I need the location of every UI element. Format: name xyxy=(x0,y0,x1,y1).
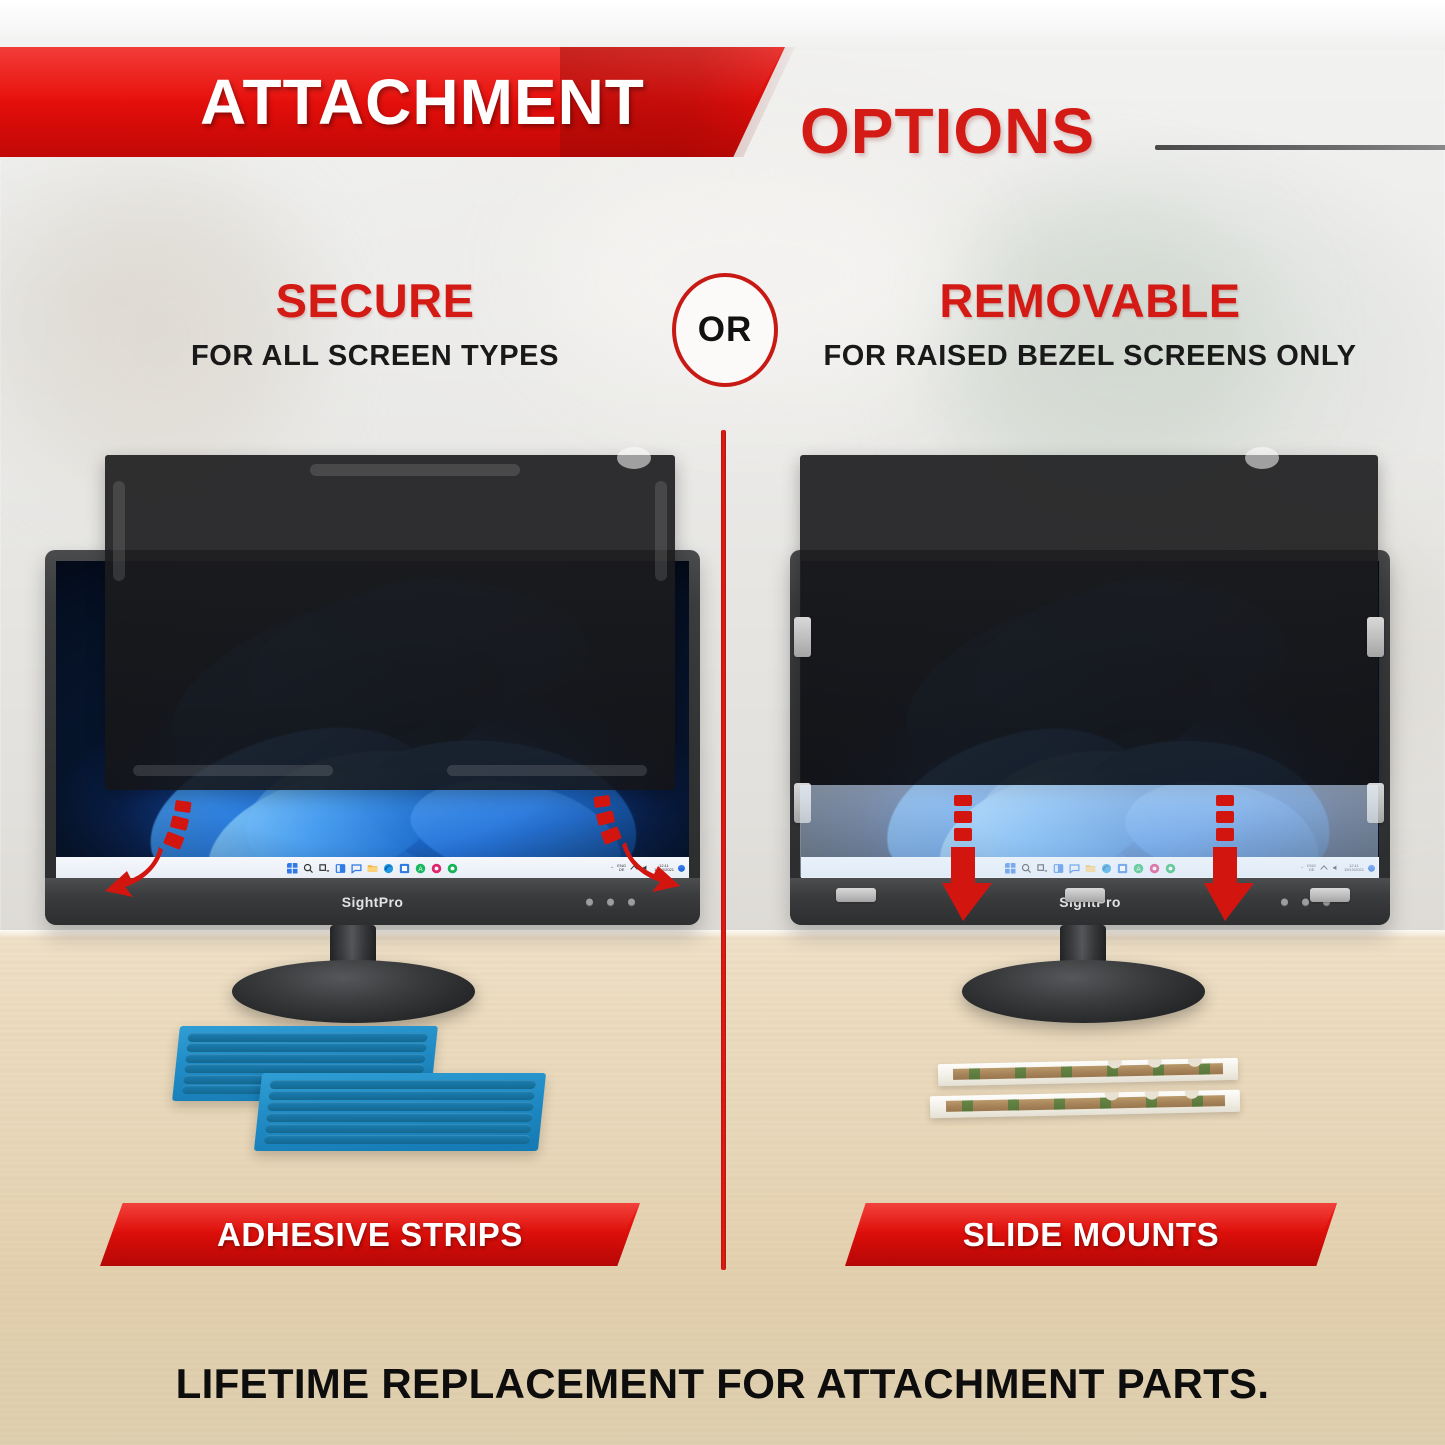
search-icon[interactable] xyxy=(303,863,314,874)
filter-bottom-notch-right xyxy=(447,765,647,776)
start-icon[interactable] xyxy=(287,863,298,874)
filter-light-band-right xyxy=(800,785,1378,877)
section-subtitle-removable: FOR RAISED BEZEL SCREENS ONLY xyxy=(790,340,1390,373)
filter-webcam-cutout xyxy=(1245,447,1279,469)
adhesive-strip xyxy=(267,1102,534,1111)
slide-mount-clip-left-upper[interactable] xyxy=(794,617,811,657)
infographic-canvas: ATTACHMENT OPTIONS SECURE FOR ALL SCREEN… xyxy=(0,0,1445,1445)
label-banner-slide-mounts: SLIDE MOUNTS xyxy=(845,1203,1337,1266)
taskbar-icon-group: A xyxy=(287,863,458,874)
svg-text:A: A xyxy=(418,865,423,872)
adhesive-strip xyxy=(185,1054,426,1063)
widgets-icon[interactable] xyxy=(335,863,346,874)
adhesive-strip-sheet-front[interactable] xyxy=(254,1073,546,1151)
monitor-right-stand-base xyxy=(962,960,1205,1023)
privacy-filter-panel-left[interactable] xyxy=(105,455,675,790)
filter-right-tab xyxy=(655,481,667,581)
label-slide-mounts: SLIDE MOUNTS xyxy=(963,1216,1220,1254)
adhesive-strip xyxy=(265,1124,532,1133)
app-pink-o-icon[interactable] xyxy=(431,863,442,874)
app-green-o-icon[interactable] xyxy=(447,863,458,874)
adhesive-strip xyxy=(184,1064,425,1073)
adhesive-strip xyxy=(264,1135,531,1144)
slide-mount-clip-right-upper[interactable] xyxy=(1367,617,1384,657)
footer-tagline: LIFETIME REPLACEMENT FOR ATTACHMENT PART… xyxy=(0,1360,1445,1408)
filter-left-tab xyxy=(113,481,125,581)
section-heading-left: SECURE FOR ALL SCREEN TYPES xyxy=(90,273,660,373)
app-green-a-icon[interactable]: A xyxy=(415,863,426,874)
monitor-button[interactable] xyxy=(1302,898,1309,905)
task-view-icon[interactable] xyxy=(319,863,330,874)
adhesive-strip xyxy=(266,1113,533,1122)
slide-mount-clip-bottom-left[interactable] xyxy=(836,888,876,902)
slide-mount-adhesive-core xyxy=(953,1063,1223,1080)
header-title-primary: ATTACHMENT xyxy=(200,65,645,139)
slide-mount-clip-bottom-right[interactable] xyxy=(1310,888,1350,902)
header-title-secondary: OPTIONS xyxy=(800,94,1095,168)
monitor-button[interactable] xyxy=(1281,898,1288,905)
adhesive-strip xyxy=(187,1033,428,1042)
adhesive-strip xyxy=(269,1080,536,1089)
section-title-secure: SECURE xyxy=(90,273,660,328)
arrow-straight-right xyxy=(1192,795,1258,923)
filter-bottom-notch-left xyxy=(133,765,333,776)
section-subtitle-secure: FOR ALL SCREEN TYPES xyxy=(90,340,660,373)
arrow-straight-left xyxy=(930,795,996,923)
vertical-divider xyxy=(721,430,726,1270)
chat-icon[interactable] xyxy=(351,863,362,874)
or-badge-label: OR xyxy=(698,310,753,350)
file-explorer-icon[interactable] xyxy=(367,863,378,874)
section-heading-right: REMOVABLE FOR RAISED BEZEL SCREENS ONLY xyxy=(790,273,1390,373)
label-banner-adhesive-strips: ADHESIVE STRIPS xyxy=(100,1203,640,1266)
edge-icon[interactable] xyxy=(383,863,394,874)
filter-webcam-cutout xyxy=(617,447,651,469)
top-white-strip xyxy=(0,0,1445,50)
slide-mount-adhesive-core xyxy=(945,1095,1224,1112)
section-title-removable: REMOVABLE xyxy=(790,273,1390,328)
filter-top-notch xyxy=(310,464,520,476)
adhesive-strip xyxy=(186,1043,427,1052)
arrow-curved-left xyxy=(105,795,235,925)
monitor-left-stand-base xyxy=(232,960,475,1023)
slide-mount-clip-bottom-center[interactable] xyxy=(1065,888,1105,902)
monitor-left-brand: SightPro xyxy=(342,894,404,910)
privacy-filter-panel-right[interactable] xyxy=(800,455,1378,785)
header-banner: ATTACHMENT OPTIONS xyxy=(0,47,1445,157)
header-rule-line xyxy=(1155,145,1445,150)
or-badge: OR xyxy=(672,273,778,387)
label-adhesive-strips: ADHESIVE STRIPS xyxy=(217,1216,523,1254)
store-icon[interactable] xyxy=(399,863,410,874)
arrow-curved-right xyxy=(545,790,680,925)
adhesive-strip xyxy=(268,1091,535,1100)
